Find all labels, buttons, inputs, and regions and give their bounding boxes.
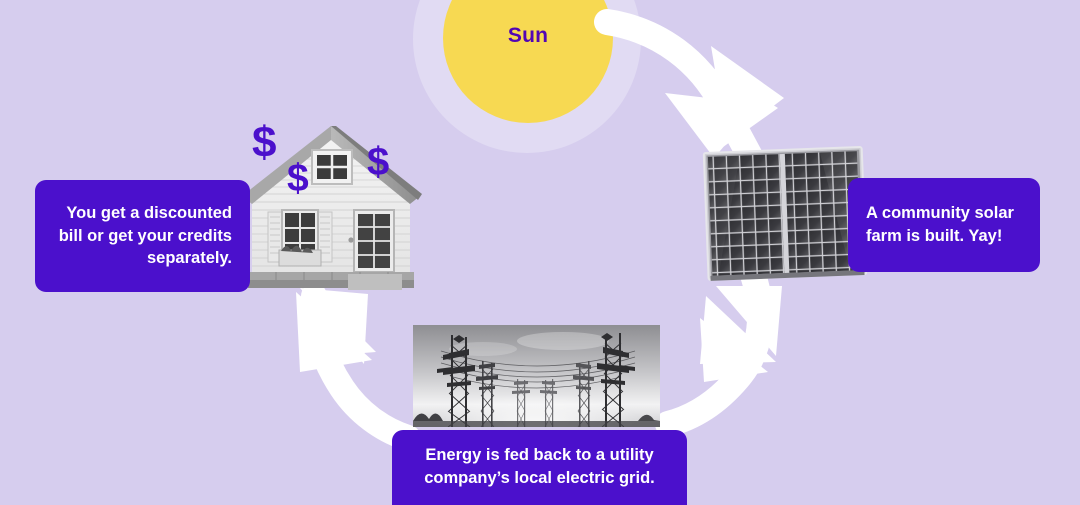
callout-utility-grid-text: Energy is fed back to a utility company’… xyxy=(410,444,669,490)
callout-utility-grid: Energy is fed back to a utility company’… xyxy=(392,430,687,505)
dollar-sign-icon: $ xyxy=(252,121,276,165)
solar-panel-icon xyxy=(702,140,867,290)
callout-home-savings: You get a discounted bill or get your cr… xyxy=(35,180,250,292)
house-icon: $ $ $ xyxy=(232,122,430,300)
arrow-solar-farm-to-grid xyxy=(668,272,782,424)
callout-solar-farm: A community solar farm is built. Yay! xyxy=(848,178,1040,272)
sun-label: Sun xyxy=(443,24,613,48)
callout-solar-farm-text: A community solar farm is built. Yay! xyxy=(866,202,1022,248)
dollar-sign-icon: $ xyxy=(367,142,389,182)
power-lines-icon xyxy=(413,325,660,427)
arrow-grid-to-home xyxy=(296,282,408,438)
dollar-sign-icon: $ xyxy=(287,159,309,198)
infographic-canvas: Sun xyxy=(0,0,1080,505)
callout-home-savings-text: You get a discounted bill or get your cr… xyxy=(53,202,232,270)
